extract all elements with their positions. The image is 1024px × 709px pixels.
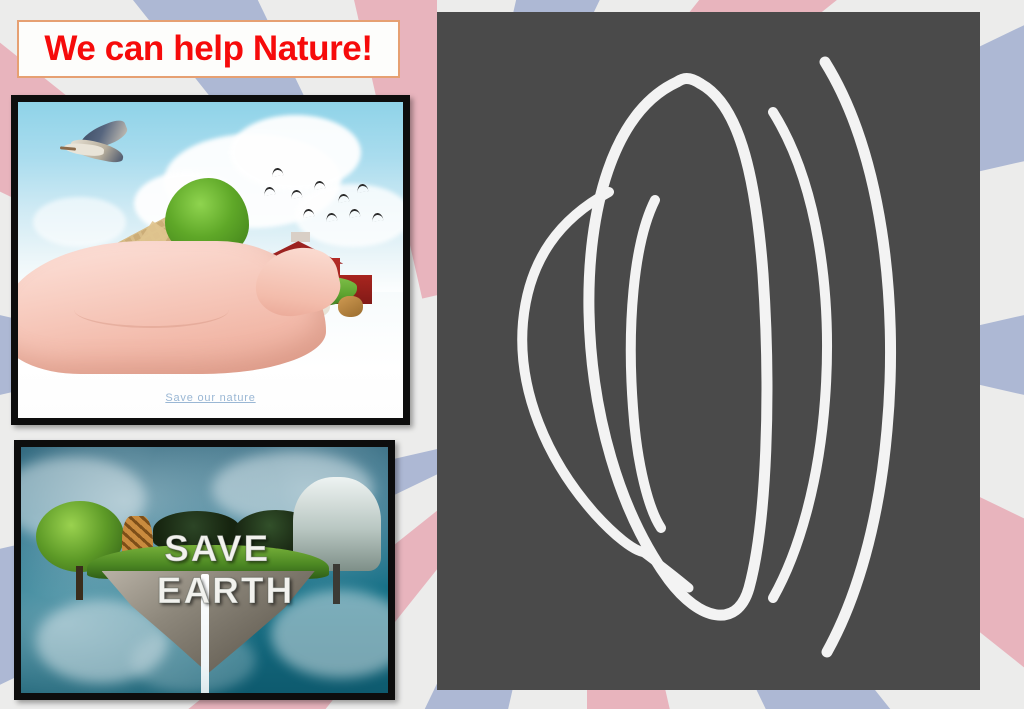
- photo-earth-content: SAVE EARTH: [21, 447, 388, 693]
- save-text: SAVE: [164, 528, 270, 570]
- photo-caption: Save our nature: [18, 392, 403, 404]
- goat: [338, 296, 363, 317]
- speaker-sketch-panel: [437, 12, 980, 690]
- sound-wave-inner: [773, 112, 827, 598]
- open-hand: [18, 241, 326, 374]
- speaker-inner-curve: [631, 200, 661, 528]
- slide-canvas: We can help Nature!: [0, 0, 1024, 709]
- earth-text: EARTH: [157, 570, 294, 612]
- title-box: We can help Nature!: [17, 20, 400, 78]
- photo-hand-content: Save our nature: [18, 102, 403, 418]
- sound-wave-outer: [825, 62, 891, 652]
- stork-bird: [60, 124, 146, 168]
- hand-holding-nature-photo: Save our nature: [11, 95, 410, 425]
- save-earth-photo: SAVE EARTH: [14, 440, 395, 700]
- speaker-volume-sketch: [437, 12, 980, 690]
- page-title: We can help Nature!: [44, 29, 372, 69]
